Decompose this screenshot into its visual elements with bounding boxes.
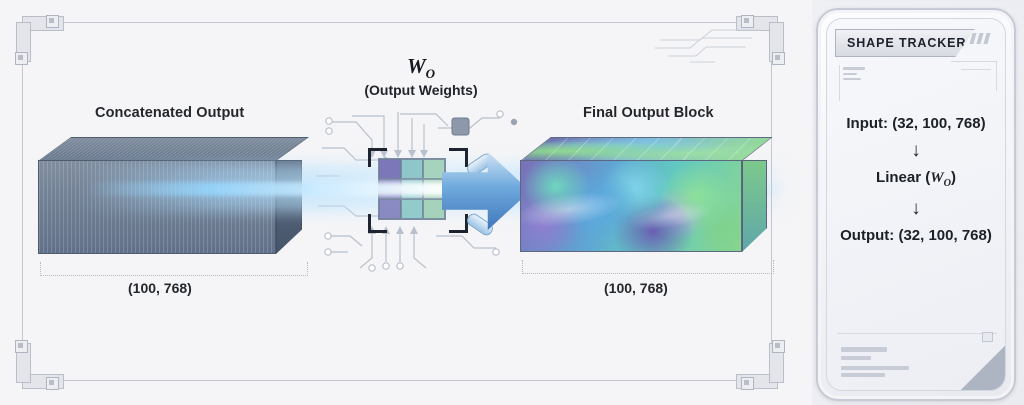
corner-node-icon — [741, 377, 754, 390]
block-top-face — [520, 137, 773, 161]
tracker-output-line: Output: (32, 100, 768) — [827, 227, 1005, 244]
chip-bracket-top-left — [368, 148, 387, 167]
final-output-block-title: Final Output Block — [583, 105, 714, 121]
block-top-face — [38, 137, 309, 161]
shape-tracker-flow: Input: (32, 100, 768) ↓ Linear (WO) ↓ Ou… — [827, 115, 1005, 244]
chip-bracket-top-right — [449, 148, 468, 167]
tracker-op-symbol: WO — [930, 170, 951, 186]
deco-text-bar — [843, 67, 865, 70]
shape-tracker-header-label: SHAPE TRACKER — [836, 36, 966, 50]
corner-node-icon — [741, 15, 754, 28]
concatenated-output-dims: (100, 768) — [128, 280, 192, 296]
tracker-down-arrow-icon: ↓ — [827, 141, 1005, 160]
wo-symbol: WO — [316, 56, 526, 80]
deco-text-bar — [841, 356, 871, 360]
corner-bracket-bottom-right — [738, 345, 784, 389]
panel-corner-accent — [961, 346, 1005, 390]
header-tick-marks-icon — [971, 33, 989, 44]
block-front-face — [520, 160, 742, 252]
corner-node-icon — [15, 340, 28, 353]
corner-bracket-bottom-left — [16, 345, 62, 389]
corner-node-icon — [46, 377, 59, 390]
frame-line-top — [18, 22, 772, 23]
corner-node-icon — [46, 15, 59, 28]
output-weights-title: WO (Output Weights) — [316, 56, 526, 98]
deco-line — [961, 69, 991, 70]
deco-text-bar — [841, 347, 887, 352]
corner-bracket-top-right — [738, 16, 784, 60]
shape-tracker-header: SHAPE TRACKER — [835, 29, 975, 57]
chip-bracket-bottom-left — [368, 214, 387, 233]
tracker-operation-line: Linear (WO) — [827, 169, 1005, 190]
block-side-face — [742, 160, 767, 252]
tracker-down-arrow-icon: ↓ — [827, 199, 1005, 218]
deco-text-bar — [843, 78, 861, 80]
deco-text-bar — [841, 373, 885, 377]
frame-line-left — [22, 22, 23, 381]
final-output-block — [520, 137, 775, 253]
chip-bracket-bottom-right — [449, 214, 468, 233]
main-diagram-panel: Concatenated Output (100, 768) WO (Outpu… — [0, 0, 812, 405]
grid-cell — [423, 159, 445, 179]
concatenated-output-title: Concatenated Output — [95, 105, 244, 121]
dimension-bracket-right — [522, 260, 774, 274]
deco-text-bar — [841, 366, 909, 370]
tracker-op-suffix: ) — [951, 169, 956, 186]
shape-tracker-inner: SHAPE TRACKER Input: (32, 100, 768) ↓ Li… — [826, 18, 1006, 391]
frame-line-bottom — [18, 380, 772, 381]
grid-cell — [423, 199, 445, 219]
deco-square-icon — [982, 332, 993, 342]
deco-line — [839, 65, 840, 101]
deco-line — [951, 61, 997, 62]
deco-text-bar — [843, 73, 857, 75]
tracker-input-line: Input: (32, 100, 768) — [827, 115, 1005, 132]
tracker-op-prefix: Linear ( — [876, 169, 930, 186]
dimension-bracket-left — [40, 262, 308, 276]
corner-node-icon — [772, 52, 785, 65]
deco-line — [837, 333, 997, 334]
output-weights-caption: (Output Weights) — [316, 82, 526, 98]
corner-node-icon — [772, 340, 785, 353]
deco-line — [996, 61, 997, 91]
corner-bracket-top-left — [16, 16, 62, 60]
final-output-block-dims: (100, 768) — [604, 280, 668, 296]
shape-tracker-panel: SHAPE TRACKER Input: (32, 100, 768) ↓ Li… — [816, 8, 1016, 401]
grid-cell — [401, 199, 423, 219]
grid-cell — [401, 159, 423, 179]
corner-node-icon — [15, 52, 28, 65]
